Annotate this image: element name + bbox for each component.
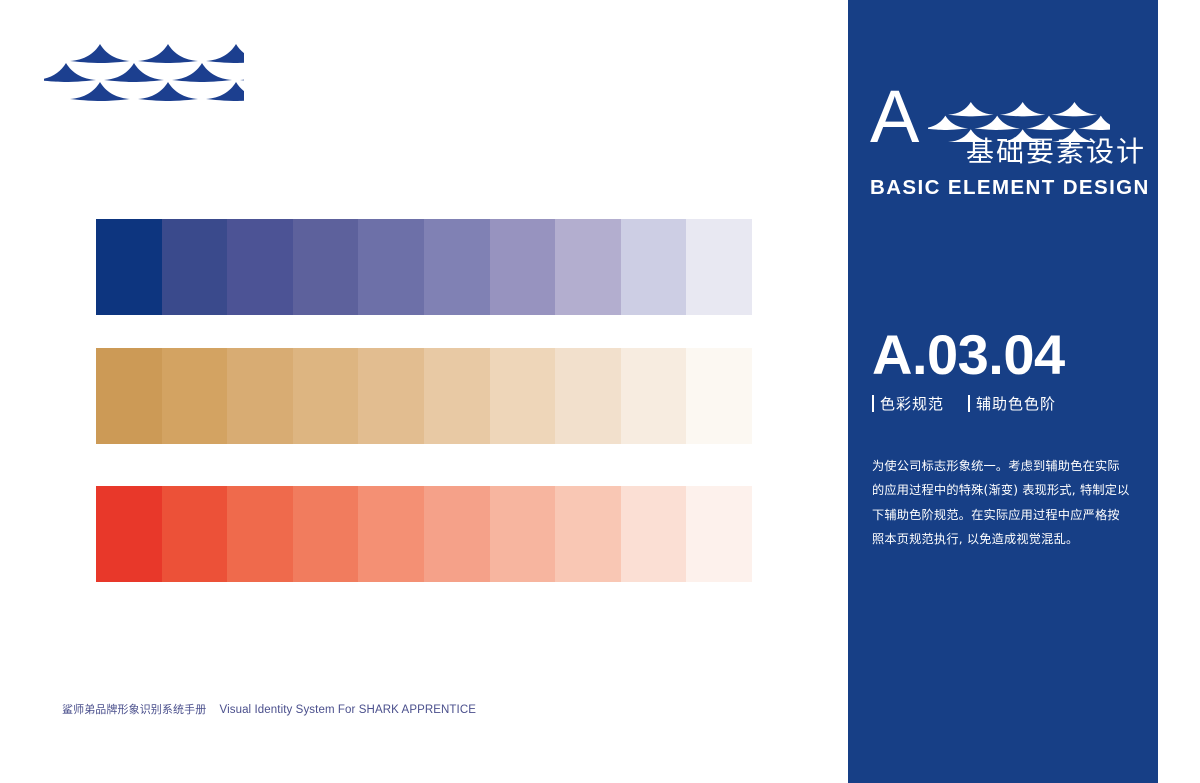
color-swatch [555,348,621,444]
color-swatch [555,486,621,582]
color-swatch [293,486,359,582]
color-swatch [96,219,162,315]
gold-gradient-row [96,348,752,444]
side-panel: A [848,0,1158,783]
color-swatch [358,486,424,582]
color-swatch [96,486,162,582]
color-swatch [424,219,490,315]
color-swatch [490,486,556,582]
panel-section-code: A.03.04 [872,327,1065,383]
panel-subtitle-aux-gradient: 辅助色色阶 [968,393,1056,414]
panel-subtitle-group: 色彩规范 辅助色色阶 [872,393,1056,414]
color-swatch [293,219,359,315]
color-swatch [96,348,162,444]
panel-title-cn: 基础要素设计 [966,130,1146,170]
color-swatch [555,219,621,315]
panel-header: A [870,88,1142,146]
page-canvas: 鲨师弟品牌形象识别系统手册 Visual Identity System For… [0,0,1200,783]
color-swatch [424,486,490,582]
color-swatch [162,219,228,315]
color-swatch [621,348,687,444]
color-swatch [162,348,228,444]
color-swatch [621,486,687,582]
panel-title-en: BASIC ELEMENT DESIGN [870,176,1150,200]
panel-section-letter: A [870,88,918,146]
color-swatch [227,348,293,444]
color-swatch [686,348,752,444]
color-swatch [424,348,490,444]
blue-gradient-row [96,219,752,315]
footer-caption: 鲨师弟品牌形象识别系统手册 Visual Identity System For… [62,701,476,717]
red-gradient-row [96,486,752,582]
color-swatch [490,348,556,444]
color-swatch [162,486,228,582]
color-swatch [358,348,424,444]
panel-subtitle-color-spec: 色彩规范 [872,393,944,414]
color-swatch [227,486,293,582]
color-swatch [621,219,687,315]
color-swatch [490,219,556,315]
panel-description: 为使公司标志形象统一。考虑到辅助色在实际的应用过程中的特殊(渐变) 表现形式, … [872,454,1130,552]
footer-caption-en: Visual Identity System For SHARK APPRENT… [220,704,477,716]
color-swatch [227,219,293,315]
color-swatch [686,486,752,582]
color-swatch [686,219,752,315]
shark-wave-logo-icon [44,44,244,106]
color-swatch [358,219,424,315]
color-swatch [293,348,359,444]
footer-caption-cn: 鲨师弟品牌形象识别系统手册 [62,704,206,716]
